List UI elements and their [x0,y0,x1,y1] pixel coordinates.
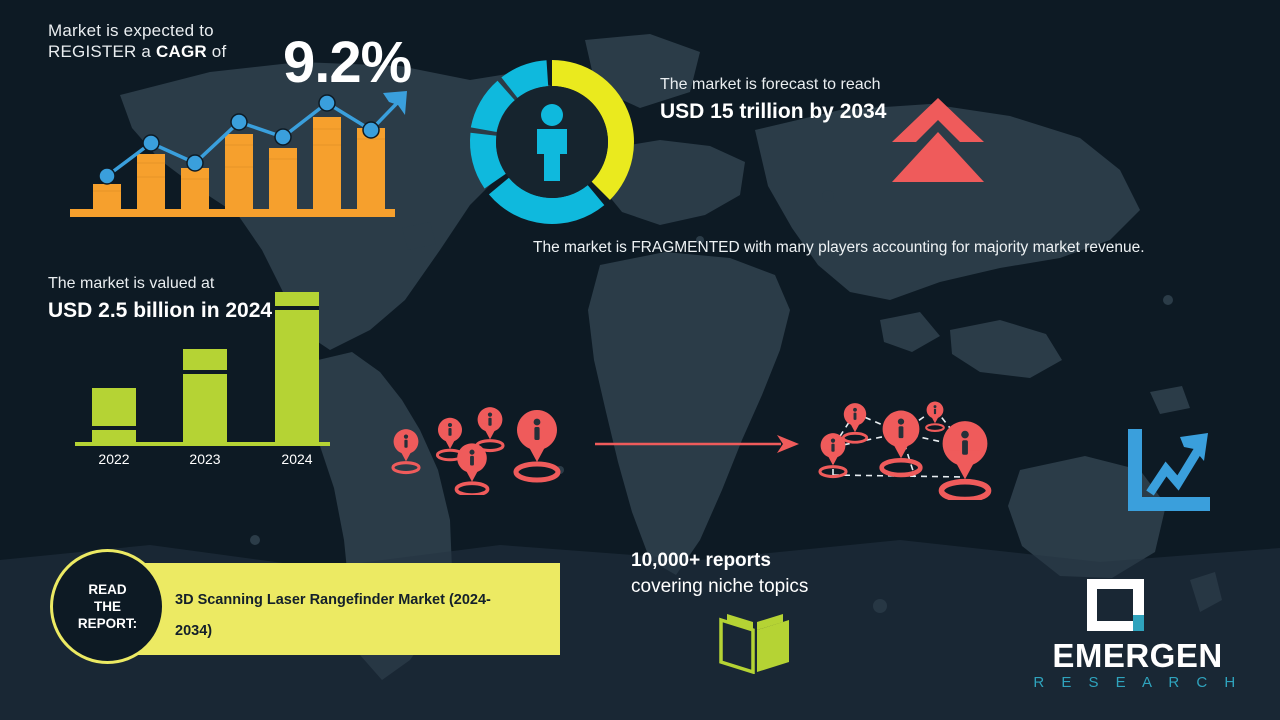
market-value-bar-chart: 2022 2023 2024 [70,292,340,472]
bar-label-2023: 2023 [189,451,220,467]
cagr-value: 9.2% [283,34,411,92]
cagr-line2-post: of [207,42,227,61]
map-pin [926,402,944,431]
read-the-report-badge[interactable]: READTHEREPORT: [50,549,165,664]
fragmentation-text: The market is FRAGMENTED with many playe… [533,237,1223,259]
cagr-keyword: CAGR [156,42,207,61]
connected-map-pins-icon [805,385,1020,500]
growth-chart-icon [65,85,415,220]
valuation-lead: The market is valued at [48,273,328,294]
map-pin [843,403,867,442]
square-bracket-logo-icon [1083,575,1148,635]
read-the-report-label: READTHEREPORT: [78,581,137,632]
map-pin [393,429,419,472]
infographic-canvas: Market is expected to REGISTER a CAGR of… [0,0,1280,720]
cagr-line2-pre: REGISTER a [48,42,156,61]
logo-wordmark: EMERGEN [1025,638,1250,674]
map-pin [456,443,487,495]
map-pin [516,410,558,480]
open-book-icon [715,608,795,674]
forecast-lead: The market is forecast to reach [660,74,890,95]
logo-subtitle: R E S E A R C H [1025,674,1250,692]
forecast-value: USD 15 trillion by 2034 [660,98,890,125]
trend-up-chart-icon [1122,425,1214,517]
person-in-donut-icon [466,56,638,228]
double-chevron-up-icon [888,96,988,186]
map-pin [882,411,921,475]
right-arrow-icon [595,432,800,456]
bar-label-2024: 2024 [281,451,312,467]
report-banner[interactable]: 3D Scanning Laser Rangefinder Market (20… [105,563,560,655]
map-pin [477,407,503,450]
scattered-map-pins-icon [380,385,580,495]
bar-label-2022: 2022 [98,451,129,467]
reports-block: 10,000+ reports covering niche topics [631,548,891,600]
emergen-research-logo: EMERGEN R E S E A R C H [1025,575,1250,705]
map-pin [941,421,988,499]
forecast-block: The market is forecast to reach USD 15 t… [660,74,890,125]
report-title: 3D Scanning Laser Rangefinder Market (20… [175,585,525,647]
cagr-block: Market is expected to REGISTER a CAGR of… [48,20,468,62]
reports-count: 10,000+ reports [631,548,891,574]
reports-subtitle: covering niche topics [631,574,891,600]
